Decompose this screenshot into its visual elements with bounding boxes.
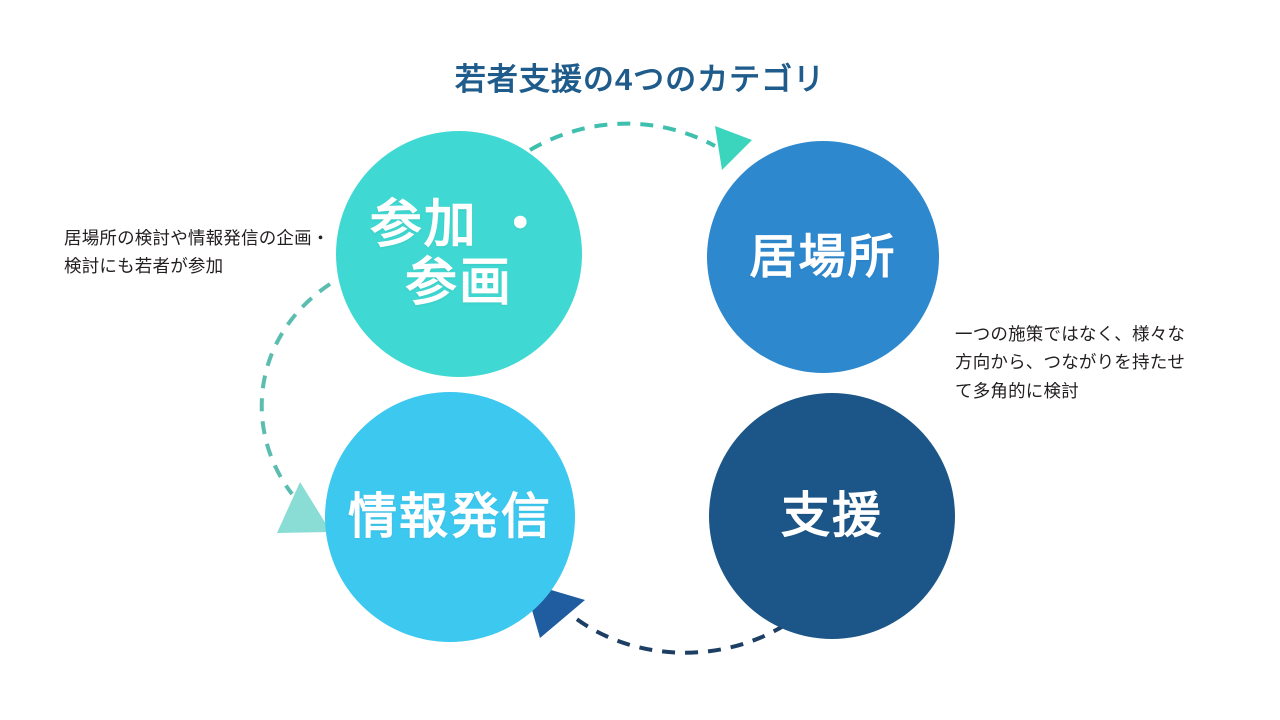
node-sanka-sankaku-label-line2: 参画: [405, 254, 513, 312]
node-joho-hasshin-label: 情報発信: [348, 490, 552, 545]
arrow-bottom-line: [570, 614, 785, 653]
node-sanka-sankaku-label-line1: 参加 ・: [370, 196, 548, 254]
node-shien[interactable]: 支援: [709, 393, 955, 639]
annotation-right: 一つの施策ではなく、様々な方向から、つながりを持たせて多角的に検討: [955, 320, 1195, 405]
arrow-left-head-icon: [277, 482, 331, 533]
arrow-left-line: [262, 284, 330, 494]
arrow-left: [262, 284, 331, 533]
node-sanka-sankaku[interactable]: 参加 ・参画: [336, 131, 582, 377]
annotation-left: 居場所の検討や情報発信の企画・検討にも若者が参加: [64, 224, 332, 281]
node-shien-label: 支援: [781, 489, 883, 544]
slide-canvas: 若者支援の4つのカテゴリ 参加 ・参画 居場所 情報発信 支援 居場所の検討: [0, 0, 1280, 720]
arrow-top-head-icon: [715, 126, 752, 170]
node-joho-hasshin[interactable]: 情報発信: [325, 392, 575, 642]
arrow-top-line: [530, 124, 715, 150]
node-sanka-sankaku-label: 参加 ・参画: [370, 196, 548, 312]
node-ibasho[interactable]: 居場所: [707, 141, 939, 373]
node-ibasho-label: 居場所: [750, 231, 897, 284]
arrow-top: [530, 124, 752, 170]
page-title: 若者支援の4つのカテゴリ: [0, 54, 1280, 99]
